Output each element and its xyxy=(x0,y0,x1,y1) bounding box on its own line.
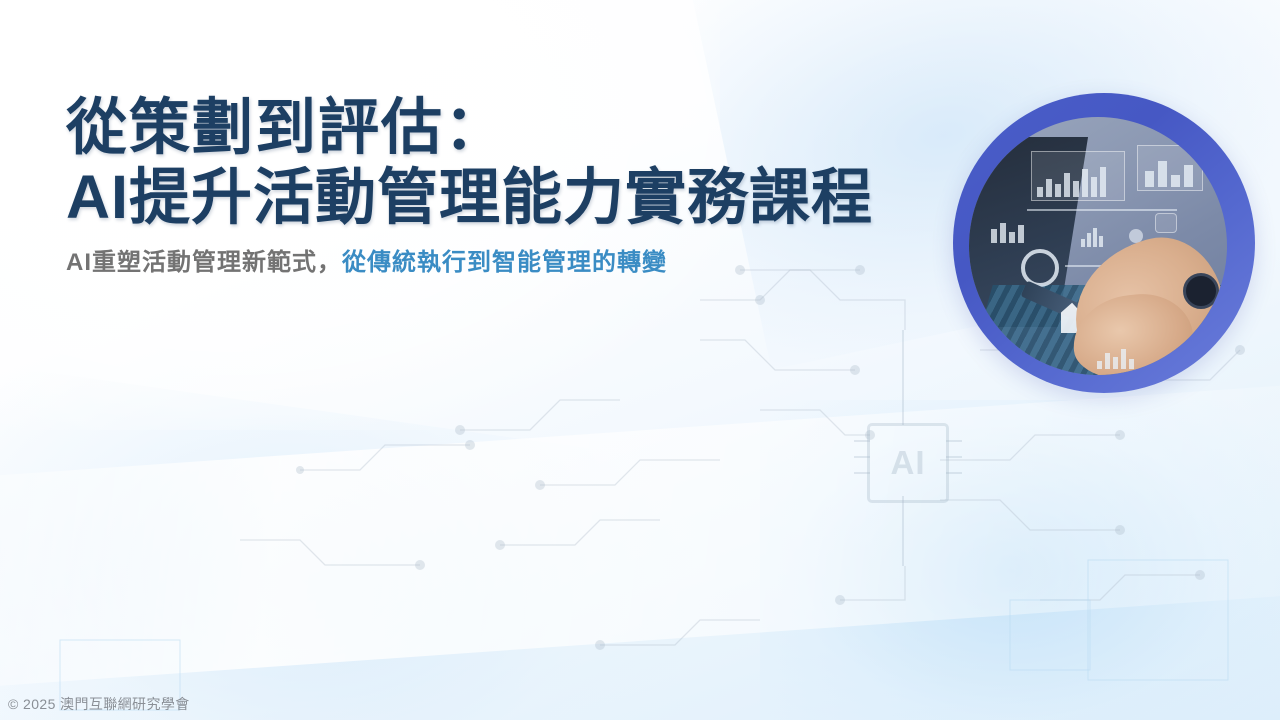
copyright-text: © 2025 澳門互聯網研究學會 xyxy=(8,694,190,714)
chip-trace-up xyxy=(902,330,904,425)
photo-bar-chart-3 xyxy=(991,221,1024,243)
footer-logo-bar: UNIVERSIDADE DE MACAU 仁 義 禮 知 信 澳 門 大 學 … xyxy=(0,540,1280,660)
photo-smartwatch xyxy=(1183,273,1219,309)
hero-image-circle xyxy=(953,93,1255,393)
subtitle-part-gray: AI重塑活動管理新範式， xyxy=(66,249,342,276)
page-title-line-1: 從策劃到評估： xyxy=(66,92,946,162)
page-title-line-2: AI提升活動管理能力實務課程 xyxy=(66,162,946,232)
title-block: 從策劃到評估： AI提升活動管理能力實務課程 AI重塑活動管理新範式，從傳統執行… xyxy=(66,92,946,280)
photo-bar-chart-2 xyxy=(1145,157,1193,187)
hero-photo xyxy=(969,117,1227,375)
presentation-slide: AI xyxy=(0,0,1280,720)
photo-hud-line-1 xyxy=(1027,209,1177,211)
subtitle-part-blue: 從傳統執行到智能管理的轉變 xyxy=(342,249,667,276)
photo-bar-chart-1 xyxy=(1037,165,1106,197)
page-subtitle: AI重塑活動管理新範式，從傳統執行到智能管理的轉變 xyxy=(66,246,946,280)
ai-chip-watermark-icon: AI xyxy=(867,423,949,503)
photo-bar-chart-4 xyxy=(1081,225,1103,247)
photo-bar-chart-6 xyxy=(1097,347,1134,369)
ai-chip-label: AI xyxy=(891,444,926,482)
photo-hud-square xyxy=(1155,213,1177,233)
